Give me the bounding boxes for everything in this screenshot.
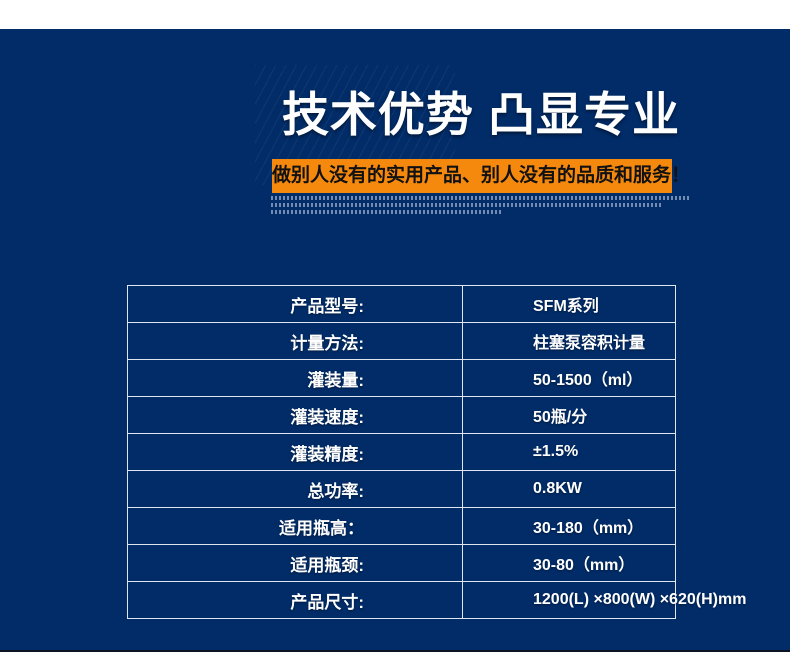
subtitle-banner: 做别人没有的实用产品、别人没有的品质和服务！	[272, 159, 672, 193]
spec-label: 适用瓶颈:	[128, 545, 463, 582]
table-row: 产品尺寸: 1200(L) ×800(W) ×620(H)mm	[128, 582, 676, 619]
table-row: 灌装量: 50-1500（ml）	[128, 360, 676, 397]
table-row: 灌装精度: ±1.5%	[128, 434, 676, 471]
page-title: 技术优势 凸显专业	[268, 87, 680, 143]
product-spec-banner: 技术优势 凸显专业 做别人没有的实用产品、别人没有的品质和服务！ 产品型号: S…	[0, 0, 790, 665]
spec-table-body: 产品型号: SFM系列 计量方法: 柱塞泵容积计量 灌装量: 50-1500（m…	[128, 286, 676, 619]
table-row: 产品型号: SFM系列	[128, 286, 676, 323]
spec-value: 30-80（mm）	[463, 545, 676, 582]
fineprint-line	[271, 196, 691, 200]
table-row: 适用瓶高： 30-180（mm）	[128, 508, 676, 545]
navy-panel: 技术优势 凸显专业 做别人没有的实用产品、别人没有的品质和服务！ 产品型号: S…	[0, 29, 790, 650]
spec-value: SFM系列	[463, 286, 676, 323]
spec-label: 产品尺寸:	[128, 582, 463, 619]
table-row: 灌装速度: 50瓶/分	[128, 397, 676, 434]
spec-label: 产品型号:	[128, 286, 463, 323]
fineprint-line	[271, 203, 663, 207]
spec-label: 灌装量:	[128, 360, 463, 397]
table-row: 总功率: 0.8KW	[128, 471, 676, 508]
spec-value: 0.8KW	[463, 471, 676, 508]
bottom-divider	[0, 650, 790, 652]
spec-value: 30-180（mm）	[463, 508, 676, 545]
spec-label: 灌装速度:	[128, 397, 463, 434]
spec-table: 产品型号: SFM系列 计量方法: 柱塞泵容积计量 灌装量: 50-1500（m…	[127, 285, 676, 619]
spec-value: 柱塞泵容积计量	[463, 323, 676, 360]
spec-value: ±1.5%	[463, 434, 676, 471]
spec-value: 50-1500（ml）	[463, 360, 676, 397]
spec-value: 50瓶/分	[463, 397, 676, 434]
spec-label: 计量方法:	[128, 323, 463, 360]
spec-label: 灌装精度:	[128, 434, 463, 471]
fineprint-block	[271, 196, 691, 218]
table-row: 计量方法: 柱塞泵容积计量	[128, 323, 676, 360]
spec-label: 适用瓶高：	[128, 508, 463, 545]
spec-label: 总功率:	[128, 471, 463, 508]
table-row: 适用瓶颈: 30-80（mm）	[128, 545, 676, 582]
spec-value: 1200(L) ×800(W) ×620(H)mm	[463, 582, 676, 619]
fineprint-line	[271, 210, 501, 214]
